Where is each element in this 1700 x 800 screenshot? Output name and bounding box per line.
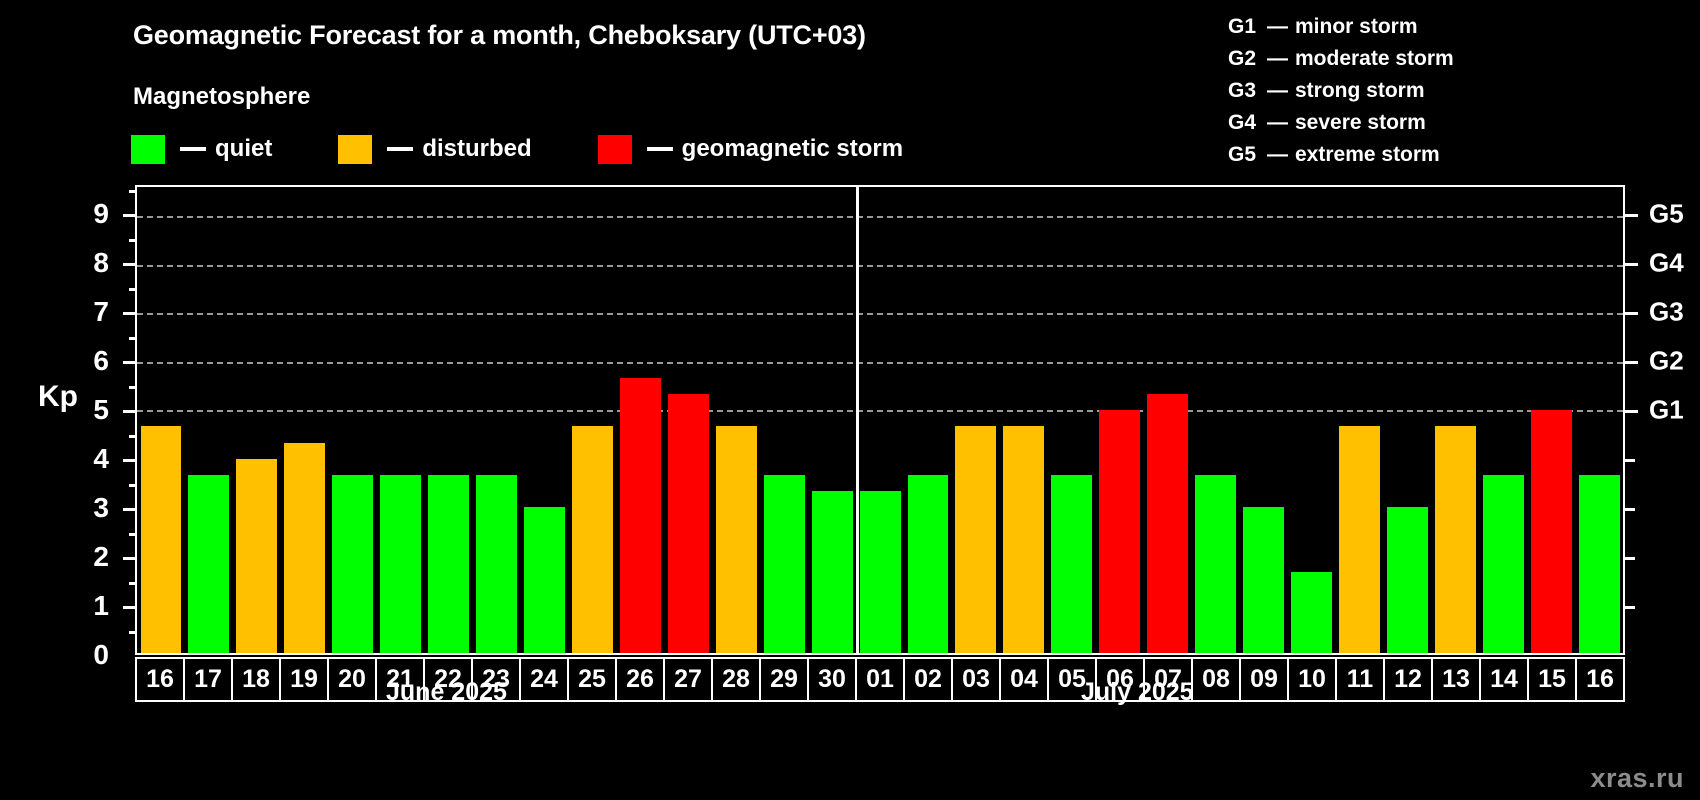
g-code: G3 (1228, 75, 1262, 107)
bar-disturbed-11[interactable] (1339, 426, 1380, 653)
bar-series (137, 187, 1623, 653)
day-label-3[interactable]: 19 (281, 659, 329, 700)
em-dash-icon: — (1267, 43, 1288, 75)
bar-cell[interactable] (1431, 187, 1479, 653)
g-tick-mark-g4 (1625, 263, 1638, 266)
bar-quiet-09[interactable] (1243, 507, 1284, 653)
g-scale-legend: G1—minor stormG2—moderate stormG3—strong… (1228, 11, 1454, 171)
day-label-28[interactable]: 14 (1481, 659, 1529, 700)
bar-cell[interactable] (760, 187, 808, 653)
bar-quiet-20[interactable] (332, 475, 373, 653)
magnetosphere-label: Magnetosphere (133, 83, 310, 111)
day-label-16[interactable]: 02 (905, 659, 953, 700)
day-label-25[interactable]: 11 (1337, 659, 1385, 700)
bar-cell[interactable] (1575, 187, 1623, 653)
bar-cell[interactable] (1096, 187, 1144, 653)
y-tick-label-5: 5 (69, 394, 109, 426)
day-label-2[interactable]: 18 (233, 659, 281, 700)
day-label-23[interactable]: 09 (1241, 659, 1289, 700)
g-tick-label-g3: G3 (1649, 297, 1684, 328)
day-label-22[interactable]: 08 (1193, 659, 1241, 700)
g-minor-tick (1625, 557, 1635, 560)
legend-dash-icon (180, 147, 206, 151)
bar-quiet-21[interactable] (380, 475, 421, 653)
bar-quiet-14[interactable] (1483, 475, 1524, 653)
bar-cell[interactable] (329, 187, 377, 653)
storm-swatch (598, 135, 632, 164)
y-tick-mark-5 (123, 410, 135, 413)
y-tick-label-6: 6 (69, 345, 109, 377)
bar-cell[interactable] (1192, 187, 1240, 653)
g-scale-row-g2: G2—moderate storm (1228, 43, 1454, 75)
g-tick-label-g4: G4 (1649, 248, 1684, 279)
bar-cell[interactable] (664, 187, 712, 653)
bar-cell[interactable] (185, 187, 233, 653)
g-description: extreme storm (1295, 139, 1440, 171)
bar-quiet-23[interactable] (476, 475, 517, 653)
day-label-18[interactable]: 04 (1001, 659, 1049, 700)
legend-item-quiet: quiet (131, 135, 272, 164)
day-label-29[interactable]: 15 (1529, 659, 1577, 700)
bar-disturbed-25[interactable] (572, 426, 613, 653)
bar-disturbed-28[interactable] (716, 426, 757, 653)
bar-quiet-10[interactable] (1291, 572, 1332, 653)
day-label-8[interactable]: 24 (521, 659, 569, 700)
g-tick-mark-g3 (1625, 312, 1638, 315)
month-label-june: June 2025 (386, 678, 507, 707)
legend-item-disturbed: disturbed (338, 135, 531, 164)
bar-disturbed-13[interactable] (1435, 426, 1476, 653)
day-label-12[interactable]: 28 (713, 659, 761, 700)
bar-quiet-05[interactable] (1051, 475, 1092, 653)
bar-cell[interactable] (904, 187, 952, 653)
g-description: strong storm (1295, 75, 1425, 107)
g-tick-mark-g2 (1625, 361, 1638, 364)
y-tick-label-9: 9 (69, 198, 109, 230)
bar-quiet-22[interactable] (428, 475, 469, 653)
day-label-14[interactable]: 30 (809, 659, 857, 700)
legend-label-storm: geomagnetic storm (682, 135, 903, 163)
g-code: G5 (1228, 139, 1262, 171)
watermark: xras.ru (1590, 763, 1684, 794)
bar-cell[interactable] (616, 187, 664, 653)
bar-quiet-17[interactable] (188, 475, 229, 653)
legend-dash-icon (647, 147, 673, 151)
g-description: minor storm (1295, 11, 1418, 43)
g-scale-row-g3: G3—strong storm (1228, 75, 1454, 107)
bar-cell[interactable] (1240, 187, 1288, 653)
bar-cell[interactable] (952, 187, 1000, 653)
bar-storm-15[interactable] (1531, 410, 1572, 653)
bar-quiet-30[interactable] (812, 491, 853, 653)
day-label-24[interactable]: 10 (1289, 659, 1337, 700)
bar-cell[interactable] (1527, 187, 1575, 653)
bar-cell[interactable] (1144, 187, 1192, 653)
bar-cell[interactable] (1048, 187, 1096, 653)
bar-cell[interactable] (473, 187, 521, 653)
g-tick-label-g5: G5 (1649, 199, 1684, 230)
bar-cell[interactable] (425, 187, 473, 653)
em-dash-icon: — (1267, 107, 1288, 139)
y-tick-label-7: 7 (69, 296, 109, 328)
bar-disturbed-04[interactable] (1003, 426, 1044, 653)
day-label-27[interactable]: 13 (1433, 659, 1481, 700)
g-scale-row-g4: G4—severe storm (1228, 107, 1454, 139)
bar-cell[interactable] (568, 187, 616, 653)
bar-quiet-02[interactable] (908, 475, 949, 653)
g-tick-label-g2: G2 (1649, 346, 1684, 377)
page-title: Geomagnetic Forecast for a month, Chebok… (133, 20, 866, 51)
y-tick-mark-2 (123, 557, 135, 560)
y-tick-mark-8 (123, 263, 135, 266)
bar-quiet-12[interactable] (1387, 507, 1428, 653)
bar-disturbed-03[interactable] (955, 426, 996, 653)
bar-quiet-16[interactable] (1579, 475, 1620, 653)
em-dash-icon: — (1267, 75, 1288, 107)
y-tick-label-3: 3 (69, 492, 109, 524)
day-label-9[interactable]: 25 (569, 659, 617, 700)
day-label-26[interactable]: 12 (1385, 659, 1433, 700)
bar-storm-06[interactable] (1099, 410, 1140, 653)
bar-storm-27[interactable] (668, 394, 709, 653)
g-tick-mark-g1 (1625, 410, 1638, 413)
y-tick-mark-6 (123, 361, 135, 364)
bar-storm-26[interactable] (620, 378, 661, 653)
y-tick-mark-4 (123, 459, 135, 462)
y-tick-label-1: 1 (69, 590, 109, 622)
day-label-0[interactable]: 16 (137, 659, 185, 700)
bar-cell[interactable] (377, 187, 425, 653)
y-tick-label-0: 0 (69, 639, 109, 671)
bar-cell[interactable] (1000, 187, 1048, 653)
y-tick-label-4: 4 (69, 443, 109, 475)
y-tick-label-8: 8 (69, 247, 109, 279)
bar-disturbed-19[interactable] (284, 443, 325, 653)
em-dash-icon: — (1267, 139, 1288, 171)
g-minor-tick (1625, 606, 1635, 609)
y-tick-mark-1 (123, 606, 135, 609)
y-tick-mark-7 (123, 312, 135, 315)
disturbed-swatch (338, 135, 372, 164)
day-label-17[interactable]: 03 (953, 659, 1001, 700)
bar-quiet-01[interactable] (860, 491, 901, 653)
legend-item-storm: geomagnetic storm (598, 135, 903, 164)
day-label-11[interactable]: 27 (665, 659, 713, 700)
bar-quiet-24[interactable] (524, 507, 565, 653)
bar-disturbed-16[interactable] (141, 426, 182, 653)
bar-cell[interactable] (281, 187, 329, 653)
bar-cell[interactable] (856, 187, 904, 653)
g-scale-row-g5: G5—extreme storm (1228, 139, 1454, 171)
quiet-swatch (131, 135, 165, 164)
bar-quiet-08[interactable] (1195, 475, 1236, 653)
bar-quiet-29[interactable] (764, 475, 805, 653)
g-minor-tick (1625, 508, 1635, 511)
day-label-30[interactable]: 16 (1577, 659, 1623, 700)
day-label-13[interactable]: 29 (761, 659, 809, 700)
bar-storm-07[interactable] (1147, 394, 1188, 653)
bar-cell[interactable] (521, 187, 569, 653)
chart-plot-area (135, 185, 1625, 655)
magnetosphere-legend: quiet disturbed geomagnetic storm (131, 133, 903, 165)
g-tick-mark-g5 (1625, 214, 1638, 217)
g-scale-row-g1: G1—minor storm (1228, 11, 1454, 43)
g-description: moderate storm (1295, 43, 1454, 75)
g-minor-tick (1625, 459, 1635, 462)
legend-label-quiet: quiet (215, 135, 272, 163)
bar-cell[interactable] (712, 187, 760, 653)
day-label-1[interactable]: 17 (185, 659, 233, 700)
bar-cell[interactable] (233, 187, 281, 653)
y-tick-label-2: 2 (69, 541, 109, 573)
bar-cell[interactable] (808, 187, 856, 653)
em-dash-icon: — (1267, 11, 1288, 43)
day-axis: 1617181920212223242526272829300102030405… (135, 657, 1625, 702)
bar-cell[interactable] (1288, 187, 1336, 653)
g-code: G2 (1228, 43, 1262, 75)
legend-dash-icon (387, 147, 413, 151)
y-tick-mark-3 (123, 508, 135, 511)
g-description: severe storm (1295, 107, 1426, 139)
day-label-10[interactable]: 26 (617, 659, 665, 700)
y-tick-mark-9 (123, 214, 135, 217)
bar-cell[interactable] (1479, 187, 1527, 653)
bar-cell[interactable] (137, 187, 185, 653)
day-label-15[interactable]: 01 (857, 659, 905, 700)
month-label-july: July 2025 (1081, 678, 1194, 707)
bar-cell[interactable] (1383, 187, 1431, 653)
day-label-4[interactable]: 20 (329, 659, 377, 700)
legend-label-disturbed: disturbed (422, 135, 531, 163)
g-code: G4 (1228, 107, 1262, 139)
bar-disturbed-18[interactable] (236, 459, 277, 653)
g-code: G1 (1228, 11, 1262, 43)
bar-cell[interactable] (1335, 187, 1383, 653)
g-tick-label-g1: G1 (1649, 395, 1684, 426)
